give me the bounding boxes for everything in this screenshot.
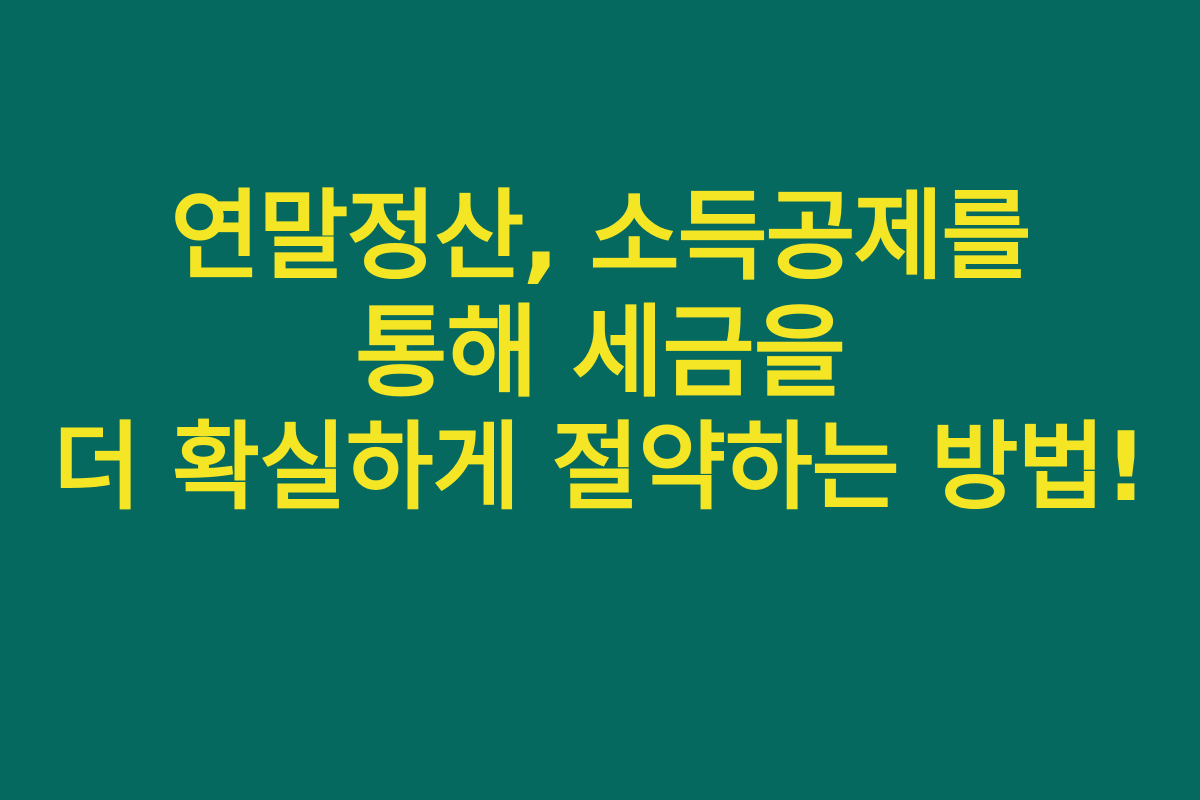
headline-line-1: 연말정산, 소득공제를 <box>0 180 1200 295</box>
banner-canvas: 연말정산, 소득공제를 통해 세금을 더 확실하게 절약하는 방법! <box>0 0 1200 800</box>
headline-line-2: 통해 세금을 <box>0 295 1200 410</box>
headline-block: 연말정산, 소득공제를 통해 세금을 더 확실하게 절약하는 방법! <box>0 0 1200 800</box>
headline-line-3: 더 확실하게 절약하는 방법! <box>0 410 1200 525</box>
